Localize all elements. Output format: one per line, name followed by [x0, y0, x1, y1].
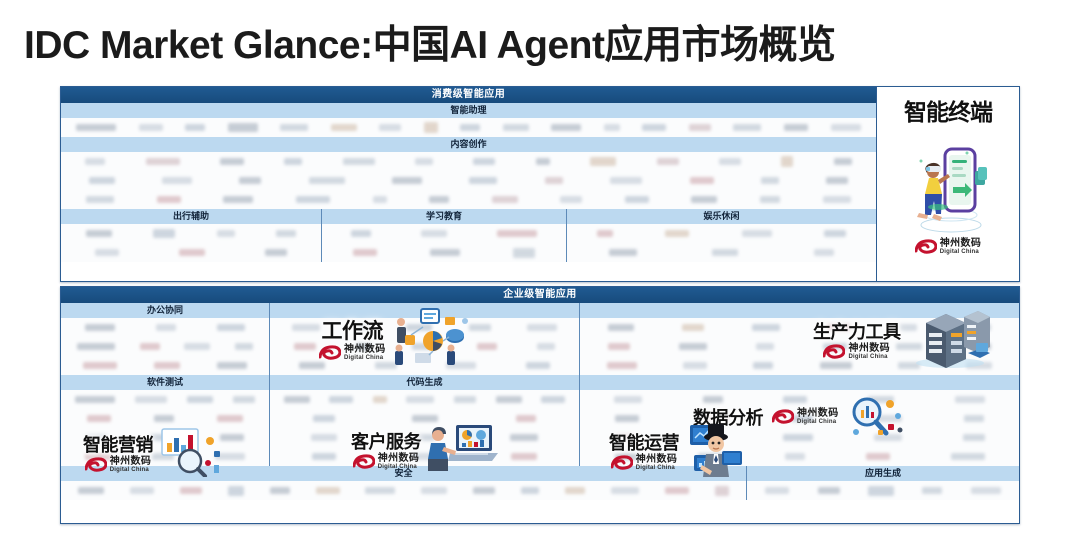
vendor-logo: [296, 196, 330, 203]
column-entertainment-leisure: 娱乐休闲: [566, 209, 876, 262]
logo-strip-entertainment-leisure: [567, 224, 876, 262]
vendor-logo: [610, 177, 642, 184]
vendor-logo: [565, 487, 585, 494]
subsection-header-software-testing: 软件测试: [61, 375, 269, 390]
logo-strip-software-testing: [61, 390, 269, 409]
vendor-logo: [496, 396, 522, 403]
vendor-logo: [784, 124, 808, 131]
vendor-logo: [78, 487, 104, 494]
vendor-logo: [824, 230, 846, 237]
logo-row: [270, 318, 579, 337]
vendor-logo: [228, 123, 258, 132]
logo-row: [580, 409, 1019, 428]
phone-ar-user-illustration: [907, 129, 989, 237]
enterprise-row-4: 安全: [61, 466, 1019, 500]
vendor-logo: [609, 249, 637, 256]
subsection-header-data-analysis-blank: [580, 375, 1019, 390]
vendor-logo: [353, 249, 377, 256]
smart-terminal-panel: 智能终端: [876, 87, 1019, 281]
vendor-logo: [139, 124, 163, 131]
vendor-logo: [715, 486, 729, 496]
logo-row: [61, 428, 269, 447]
vendor-logo: [469, 324, 491, 331]
vendor-logo: [86, 434, 108, 441]
column-productivity-tools: [579, 303, 1019, 375]
vendor-logo: [537, 343, 555, 350]
vendor-logo: [280, 124, 308, 131]
column-smart-marketing: [61, 409, 269, 466]
vendor-logo: [608, 343, 630, 350]
vendor-logo: [665, 487, 689, 494]
vendor-logo: [831, 124, 861, 131]
logo-row: [270, 337, 579, 356]
vendor-logo: [896, 343, 922, 350]
vendor-logo: [309, 177, 345, 184]
column-code-generation: 代码生成: [269, 375, 579, 409]
logo-row: [61, 243, 321, 262]
vendor-logo: [752, 324, 780, 331]
vendor-logo: [392, 177, 422, 184]
vendor-logo: [820, 362, 852, 369]
logo-row: [580, 390, 1019, 409]
vendor-logo: [899, 324, 917, 331]
logo-row: [270, 356, 579, 375]
subsection-header-entertainment-leisure: 娱乐休闲: [567, 209, 876, 224]
logo-row: [580, 318, 1019, 337]
brand-name-cn: 神州数码: [940, 239, 982, 249]
vendor-logo: [545, 177, 563, 184]
vendor-logo: [682, 324, 704, 331]
vendor-logo: [679, 343, 707, 350]
vendor-logo: [446, 362, 476, 369]
vendor-logo: [597, 230, 613, 237]
logo-row: [580, 356, 1019, 375]
column-app-generation: 应用生成: [746, 466, 1019, 500]
vendor-logo: [150, 434, 178, 441]
vendor-logo: [312, 453, 336, 460]
logo-strip-security: [61, 481, 746, 500]
enterprise-band-title: 企业级智能应用: [61, 287, 1019, 303]
enterprise-row-3: [61, 409, 1019, 466]
logo-row: [270, 447, 579, 466]
vendor-logo: [373, 396, 387, 403]
vendor-logo: [89, 177, 115, 184]
vendor-logo: [922, 487, 942, 494]
vendor-logo: [866, 453, 890, 460]
vendor-logo: [733, 124, 761, 131]
vendor-logo: [683, 362, 707, 369]
vendor-logo: [415, 158, 433, 165]
vendor-logo: [965, 324, 991, 331]
vendor-logo: [153, 229, 175, 238]
digital-china-swoosh-icon: [915, 239, 937, 255]
vendor-logo: [898, 362, 920, 369]
vendor-logo: [233, 396, 255, 403]
vendor-logo: [154, 415, 174, 422]
vendor-logo: [460, 124, 480, 131]
vendor-logo: [971, 487, 1001, 494]
logo-row: [61, 481, 746, 500]
vendor-logo: [179, 249, 205, 256]
vendor-logo: [469, 177, 497, 184]
vendor-logo: [351, 230, 371, 237]
vendor-logo: [156, 324, 176, 331]
vendor-logo: [955, 396, 985, 403]
logo-strip-travel-assist: [61, 224, 321, 262]
vendor-logo: [316, 487, 340, 494]
vendor-logo: [412, 343, 436, 350]
logo-strip-customer-service: [270, 409, 579, 466]
vendor-logo: [765, 487, 789, 494]
vendor-logo: [971, 343, 991, 350]
column-travel-assist: 出行辅助: [61, 209, 321, 262]
subsection-header-learning-education: 学习教育: [322, 209, 566, 224]
logo-row: [580, 428, 1019, 447]
column-learning-education: 学习教育: [321, 209, 566, 262]
vendor-logo: [590, 157, 616, 166]
logo-row: [61, 224, 321, 243]
vendor-logo: [615, 415, 639, 422]
vendor-logo: [373, 196, 387, 203]
vendor-logo: [876, 415, 902, 422]
vendor-logo: [152, 453, 174, 460]
vendor-logo: [874, 434, 902, 441]
vendor-logo: [551, 124, 581, 131]
vendor-logo: [615, 453, 637, 460]
vendor-logo: [818, 487, 840, 494]
vendor-logo: [477, 343, 497, 350]
vendor-logo: [86, 230, 112, 237]
column-office-collaboration: 办公协同: [61, 303, 269, 375]
logo-strip-code-generation: [270, 390, 579, 409]
vendor-logo: [217, 415, 243, 422]
vendor-logo: [497, 230, 537, 237]
vendor-logo: [85, 158, 105, 165]
vendor-logo: [964, 415, 984, 422]
vendor-logo: [492, 196, 518, 203]
vendor-logo: [187, 396, 213, 403]
subsection-header-security: 安全: [61, 466, 746, 481]
vendor-logo: [785, 453, 805, 460]
vendor-logo: [827, 324, 851, 331]
vendor-logo: [951, 453, 985, 460]
vendor-logo: [823, 343, 847, 350]
vendor-logo: [753, 362, 773, 369]
vendor-logo: [87, 415, 111, 422]
vendor-logo: [299, 362, 325, 369]
vendor-logo: [421, 487, 447, 494]
vendor-logo: [284, 396, 310, 403]
logo-row: [61, 409, 269, 428]
vendor-logo: [421, 230, 447, 237]
vendor-logo: [516, 415, 536, 422]
vendor-logo: [75, 396, 115, 403]
vendor-logo: [614, 396, 642, 403]
logo-row: [61, 171, 876, 190]
vendor-logo: [85, 324, 115, 331]
logo-row: [61, 152, 876, 171]
vendor-logo: [510, 434, 538, 441]
brand-name-en: Digital China: [940, 249, 982, 255]
enterprise-row-1: 办公协同: [61, 303, 1019, 375]
vendor-logo: [963, 434, 985, 441]
vendor-logo: [162, 177, 192, 184]
vendor-logo: [783, 396, 807, 403]
vendor-logo: [184, 343, 210, 350]
vendor-logo: [294, 343, 316, 350]
logo-row: [61, 118, 876, 137]
vendor-logo: [228, 486, 244, 496]
column-data-analysis: [579, 375, 1019, 409]
logo-row: [61, 190, 876, 209]
vendor-logo: [513, 248, 535, 258]
vendor-logo: [703, 396, 723, 403]
vendor-logo: [217, 362, 247, 369]
logo-strip-smart-operations: [580, 409, 1019, 466]
vendor-logo: [292, 324, 320, 331]
consumer-band-title: 消费级智能应用: [61, 87, 876, 103]
vendor-logo: [473, 487, 495, 494]
vendor-logo: [329, 396, 353, 403]
consumer-bottom-columns: 出行辅助 学习教育: [61, 209, 876, 262]
subsection-header-content-creation: 内容创作: [61, 137, 876, 152]
vendor-logo: [157, 196, 181, 203]
vendor-logo: [265, 249, 287, 256]
vendor-logo: [868, 396, 894, 403]
vendor-logo: [642, 124, 666, 131]
vendor-logo: [343, 158, 375, 165]
subsection-header-productivity-blank: [580, 303, 1019, 318]
logo-strip-productivity-tools: [580, 318, 1019, 375]
logo-row: [270, 409, 579, 428]
vendor-logo: [406, 396, 434, 403]
subsection-header-travel-assist: 出行辅助: [61, 209, 321, 224]
vendor-logo: [146, 158, 180, 165]
logo-row: [747, 481, 1019, 500]
logo-row: [270, 390, 579, 409]
vendor-logo: [712, 249, 738, 256]
vendor-logo: [541, 396, 565, 403]
vendor-logo: [356, 343, 372, 350]
logo-row: [61, 356, 269, 375]
vendor-logo: [85, 453, 111, 460]
vendor-logo: [823, 196, 851, 203]
vendor-logo: [696, 434, 722, 441]
vendor-logo: [966, 362, 992, 369]
vendor-logo: [657, 158, 679, 165]
vendor-logo: [690, 177, 714, 184]
logo-row: [322, 224, 566, 243]
logo-strip-learning-education: [322, 224, 566, 262]
vendor-logo: [742, 230, 772, 237]
vendor-logo: [615, 434, 635, 441]
vendor-logo: [689, 124, 711, 131]
logo-row: [580, 337, 1019, 356]
vendor-logo: [86, 196, 114, 203]
subsection-header-office-collaboration: 办公协同: [61, 303, 269, 318]
vendor-logo: [412, 415, 438, 422]
vendor-logo: [454, 396, 476, 403]
vendor-logo: [536, 158, 550, 165]
vendor-logo: [608, 324, 634, 331]
page-title: IDC Market Glance:中国AI Agent应用市场概览: [24, 14, 1064, 70]
logo-row: [567, 243, 876, 262]
vendor-logo: [756, 343, 774, 350]
vendor-logo: [781, 156, 793, 167]
vendor-logo: [826, 177, 848, 184]
vendor-logo: [527, 324, 557, 331]
subsection-header-code-generation: 代码生成: [270, 375, 579, 390]
vendor-logo: [698, 453, 724, 460]
vendor-logo: [185, 124, 205, 131]
vendor-logo: [180, 487, 202, 494]
column-workflow: [269, 303, 579, 375]
logo-strip-workflow: [270, 318, 579, 375]
digital-china-wordmark: 神州数码 Digital China: [940, 239, 982, 255]
logo-row: [61, 390, 269, 409]
vendor-logo: [719, 158, 741, 165]
column-security: 安全: [61, 466, 746, 500]
logo-strip-data-analysis: [580, 390, 1019, 409]
vendor-logo: [83, 362, 117, 369]
vendor-logo: [611, 487, 639, 494]
vendor-logo: [356, 324, 370, 331]
vendor-logo: [76, 124, 116, 131]
logo-strip-app-generation: [747, 481, 1019, 500]
vendor-logo: [311, 434, 337, 441]
vendor-logo: [868, 486, 894, 496]
subsection-header-smart-assistant: 智能助理: [61, 103, 876, 118]
vendor-logo: [701, 415, 729, 422]
vendor-logo: [424, 122, 438, 133]
vendor-logo: [215, 453, 245, 460]
enterprise-applications-board: 企业级智能应用 办公协同: [60, 286, 1020, 524]
vendor-logo: [313, 415, 335, 422]
vendor-logo: [511, 453, 537, 460]
consumer-content-area: 消费级智能应用 智能助理: [61, 87, 876, 281]
logo-strip-office-collaboration: [61, 318, 269, 375]
vendor-logo: [284, 158, 302, 165]
vendor-logo: [834, 158, 852, 165]
logo-row: [61, 447, 269, 466]
logo-row: [61, 318, 269, 337]
subsection-header-app-generation: 应用生成: [747, 466, 1019, 481]
vendor-logo: [760, 196, 780, 203]
logo-row: [270, 428, 579, 447]
vendor-logo: [220, 158, 244, 165]
vendor-logo: [503, 124, 529, 131]
vendor-logo: [154, 362, 180, 369]
vendor-logo: [130, 487, 154, 494]
vendor-logo: [791, 415, 813, 422]
vendor-logo: [379, 124, 401, 131]
vendor-logo: [140, 343, 160, 350]
enterprise-row-2: 软件测试 代码生成: [61, 375, 1019, 409]
vendor-logo: [429, 196, 449, 203]
vendor-logo: [331, 124, 357, 131]
digital-china-logo: 神州数码 Digital China: [915, 239, 982, 255]
vendor-logo: [220, 434, 244, 441]
vendor-logo: [77, 343, 115, 350]
logo-strip-content-creation: [61, 152, 876, 209]
vendor-logo: [375, 362, 397, 369]
vendor-logo: [239, 177, 261, 184]
vendor-logo: [411, 434, 435, 441]
vendor-logo: [95, 249, 119, 256]
vendor-logo: [625, 196, 649, 203]
vendor-logo: [783, 434, 813, 441]
logo-strip-smart-marketing: [61, 409, 269, 466]
smart-terminal-title: 智能终端: [904, 93, 992, 127]
vendor-logo: [135, 396, 167, 403]
column-software-testing: 软件测试: [61, 375, 269, 409]
vendor-logo: [526, 362, 550, 369]
logo-row: [322, 243, 566, 262]
vendor-logo: [217, 324, 245, 331]
vendor-logo: [365, 487, 395, 494]
vendor-logo: [217, 230, 235, 237]
vendor-logo: [521, 487, 539, 494]
vendor-logo: [430, 249, 460, 256]
subsection-header-workflow-blank: [270, 303, 579, 318]
vendor-logo: [560, 196, 582, 203]
logo-strip-smart-assistant: [61, 118, 876, 137]
column-customer-service: [269, 409, 579, 466]
vendor-logo: [235, 343, 253, 350]
vendor-logo: [223, 196, 253, 203]
vendor-logo: [270, 487, 290, 494]
vendor-logo: [665, 230, 689, 237]
vendor-logo: [406, 324, 432, 331]
vendor-logo: [691, 196, 717, 203]
vendor-logo: [607, 362, 637, 369]
consumer-applications-board: 消费级智能应用 智能助理: [60, 86, 1020, 282]
column-smart-operations: [579, 409, 1019, 466]
vendor-logo: [276, 230, 296, 237]
logo-row: [567, 224, 876, 243]
vendor-logo: [604, 124, 620, 131]
logo-row: [580, 447, 1019, 466]
vendor-logo: [412, 453, 434, 460]
vendor-logo: [814, 249, 834, 256]
vendor-logo: [473, 158, 495, 165]
vendor-logo: [761, 177, 779, 184]
logo-row: [61, 337, 269, 356]
